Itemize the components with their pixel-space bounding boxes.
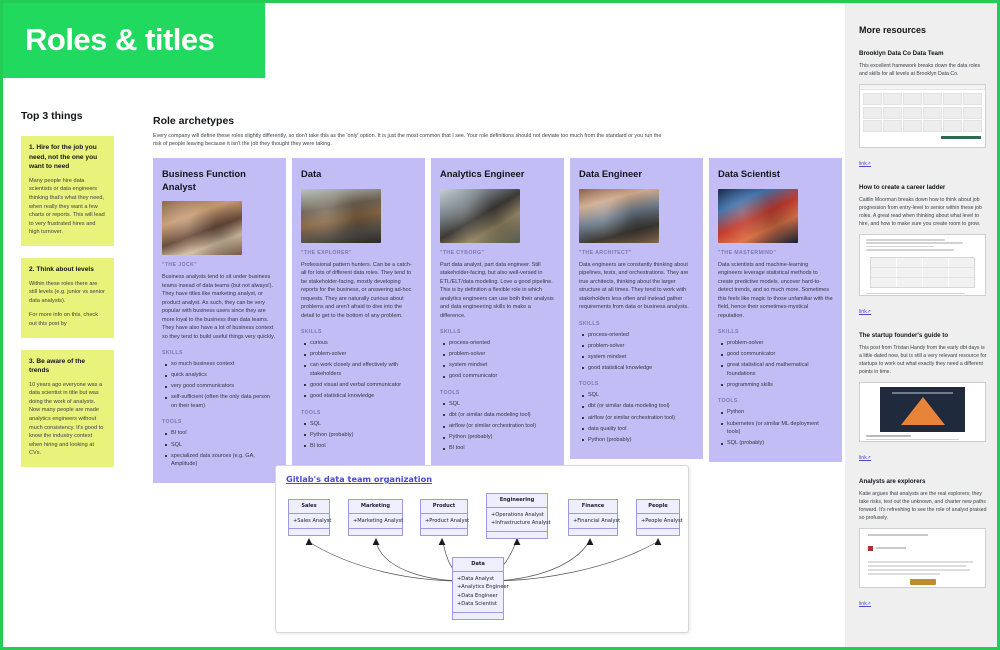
resource-item: The startup founder's guide to This post… [859, 331, 987, 464]
org-node-members: +Operations Analyst +Infrastructure Anal… [487, 508, 547, 532]
skills-list: process-oriented problem-solver system m… [440, 339, 555, 381]
skills-list: curious problem-solver can work closely … [301, 339, 416, 401]
sticky-note-title: 1. Hire for the job you need, not the on… [29, 143, 106, 172]
external-link-icon: ↗ [867, 601, 871, 607]
list-item: airflow (or similar orchestration tool) [449, 422, 555, 431]
jock-photo [162, 201, 242, 255]
blog-post-thumbnail[interactable] [859, 528, 986, 588]
org-member: +People Analyst [641, 517, 676, 525]
org-member: +Sales Analyst [293, 517, 326, 525]
archetype-description: Data scientists and machine-learning eng… [718, 261, 833, 321]
sticky-note-body: Many people hire data scientists or data… [29, 177, 106, 237]
archetype-card-title: Data [301, 168, 416, 181]
resource-link[interactable]: link↗ [859, 309, 871, 315]
org-member: +Infrastructure Analyst [491, 519, 544, 527]
org-node-name: Engineering [487, 494, 547, 508]
archetype-card-title: Business Function Analyst [162, 168, 277, 193]
org-node-name: Marketing [349, 500, 402, 514]
tools-label: TOOLS [440, 390, 555, 396]
list-item: problem-solver [449, 350, 555, 359]
resource-description: Caitlin Moorman breaks down how to think… [859, 196, 987, 228]
hero-banner: Roles & titles [3, 3, 265, 78]
org-member: +Data Scientist [457, 600, 500, 608]
org-node-finance[interactable]: Finance +Financial Analyst [568, 499, 618, 536]
tools-list: SQL dbt (or similar data modeling tool) … [440, 400, 555, 453]
tools-list: SQL Python (probably) BI tool [301, 420, 416, 451]
architect-photo [579, 189, 659, 243]
external-link-icon: ↗ [867, 309, 871, 315]
archetype-card-title: Data Engineer [579, 168, 694, 181]
list-item: so much business context [171, 360, 277, 369]
archetype-description: Part data analyst, part data engineer. S… [440, 261, 555, 321]
archetype-nickname: "THE CYBORG" [440, 250, 555, 256]
list-item: can work closely and effectively with st… [310, 361, 416, 378]
org-node-members: +Product Analyst [421, 514, 467, 529]
org-node-footer [569, 529, 617, 535]
archetype-card-list: Business Function Analyst "THE JOCK" Bus… [153, 158, 845, 483]
tools-list: BI tool SQL specialized data sources (e.… [162, 429, 277, 468]
list-item: SQL (probably) [727, 439, 833, 448]
org-member: +Product Analyst [425, 517, 464, 525]
list-item: SQL [171, 441, 277, 450]
top-three-heading: Top 3 things [21, 110, 121, 122]
skills-label: SKILLS [718, 329, 833, 335]
sticky-note: 1. Hire for the job you need, not the on… [21, 136, 114, 246]
list-item: good communicator [449, 372, 555, 381]
list-item: SQL [588, 391, 694, 400]
org-node-members: +Sales Analyst [289, 514, 329, 529]
org-node-name: People [637, 500, 679, 514]
resource-title: Analysts are explorers [859, 477, 987, 486]
list-item: data quality tool [588, 425, 694, 434]
org-node-sales[interactable]: Sales +Sales Analyst [288, 499, 330, 536]
list-item: specialized data sources (e.g. GA, Ampli… [171, 452, 277, 469]
list-item: problem-solver [588, 342, 694, 351]
list-item: Python (probably) [310, 431, 416, 440]
pyramid-article-thumbnail[interactable] [859, 382, 986, 442]
archetype-nickname: "THE ARCHITECT" [579, 250, 694, 256]
external-link-icon: ↗ [867, 161, 871, 167]
org-node-name: Product [421, 500, 467, 514]
archetype-description: Professional pattern hunters. Can be a c… [301, 261, 416, 321]
list-item: airflow (or similar orchestration tool) [588, 414, 694, 423]
archetype-card-title: Analytics Engineer [440, 168, 555, 181]
org-node-name: Sales [289, 500, 329, 514]
sticky-note-paragraph: For more info on this, check out this po… [29, 311, 106, 328]
org-member: +Operations Analyst [491, 511, 544, 519]
archetypes-header: Role archetypes Every company will defin… [153, 115, 673, 149]
list-item: system mindset [588, 353, 694, 362]
list-item: good statistical knowledge [310, 392, 416, 401]
list-item: curious [310, 339, 416, 348]
list-item: SQL [310, 420, 416, 429]
list-item: process-oriented [588, 331, 694, 340]
org-node-footer [637, 529, 679, 535]
list-item: very good communicators [171, 382, 277, 391]
archetype-nickname: "THE EXPLORER" [301, 250, 416, 256]
skills-list: problem-solver good communicator great s… [718, 339, 833, 389]
list-item: BI tool [171, 429, 277, 438]
org-node-engineering[interactable]: Engineering +Operations Analyst +Infrast… [486, 493, 548, 539]
archetype-description: Business analysts tend to sit under busi… [162, 273, 277, 341]
tools-list: SQL dbt (or similar data modeling tool) … [579, 391, 694, 444]
resource-link-label: link [859, 309, 867, 315]
list-item: programming skills [727, 381, 833, 390]
tools-label: TOOLS [162, 419, 277, 425]
archetype-card: Business Function Analyst "THE JOCK" Bus… [153, 158, 286, 483]
org-node-footer [453, 613, 503, 619]
org-member: +Data Analyst [457, 575, 500, 583]
org-node-name: Finance [569, 500, 617, 514]
top-three-column: Top 3 things 1. Hire for the job you nee… [21, 110, 121, 479]
archetype-nickname: "THE JOCK" [162, 262, 277, 268]
org-node-footer [421, 529, 467, 535]
list-item: Python [727, 408, 833, 417]
sticky-note-paragraph: Many people hire data scientists or data… [29, 177, 106, 237]
list-item: Python (probably) [588, 436, 694, 445]
resource-link-label: link [859, 455, 867, 461]
sticky-note-body: 10 years ago everyone was a data scienti… [29, 381, 106, 458]
resource-item: Analysts are explorers Katie argues that… [859, 477, 987, 610]
skills-list: so much business context quick analytics… [162, 360, 277, 410]
org-member: +Data Engineer [457, 592, 500, 600]
cyborg-photo [440, 189, 520, 243]
explorer-photo [301, 189, 381, 243]
archetype-nickname: "THE MASTERMIND" [718, 250, 833, 256]
org-member: +Financial Analyst [573, 517, 614, 525]
org-node-marketing[interactable]: Marketing +Marketing Analyst [348, 499, 403, 536]
archetype-card-title: Data Scientist [718, 168, 833, 181]
resource-link-label: link [859, 601, 867, 607]
archetype-card: Data Engineer "THE ARCHITECT" Data engin… [570, 158, 703, 459]
list-item: SQL [449, 400, 555, 409]
list-item: Python (probably) [449, 433, 555, 442]
list-item: dbt (or similar data modeling tool) [449, 411, 555, 420]
org-node-members: +Data Analyst +Analytics Engineer +Data … [453, 572, 503, 613]
resource-description: This post from Tristan Handy from the ea… [859, 344, 987, 376]
org-node-data[interactable]: Data +Data Analyst +Analytics Engineer +… [452, 557, 504, 620]
tools-label: TOOLS [718, 398, 833, 404]
sticky-note-title: 3. Be aware of the trends [29, 357, 106, 376]
thumbnail-cta-button [910, 579, 936, 585]
skills-list: process-oriented problem-solver system m… [579, 331, 694, 373]
sticky-note-paragraph: 10 years ago everyone was a data scienti… [29, 381, 106, 458]
resource-title: Brooklyn Data Co Data Team [859, 49, 987, 58]
org-node-footer [349, 529, 402, 535]
sticky-note-paragraph: Within these roles there are still level… [29, 280, 106, 306]
list-item: good communicator [727, 350, 833, 359]
sticky-note-title: 2. Think about levels [29, 265, 106, 275]
resource-link[interactable]: link↗ [859, 161, 871, 167]
main-canvas: Roles & titles Top 3 things 1. Hire for … [3, 3, 845, 647]
list-item: BI tool [310, 442, 416, 451]
resource-link-label: link [859, 161, 867, 167]
tools-list: Python kubernetes (or similar ML deploym… [718, 408, 833, 447]
org-node-product[interactable]: Product +Product Analyst [420, 499, 468, 536]
site-logo-icon [868, 546, 873, 551]
org-node-name: Data [453, 558, 503, 572]
resource-link[interactable]: link↗ [859, 601, 871, 607]
list-item: good visual and verbal communicator [310, 381, 416, 390]
list-item: system mindset [449, 361, 555, 370]
skills-label: SKILLS [579, 321, 694, 327]
org-node-members: +Financial Analyst [569, 514, 617, 529]
org-node-footer [289, 529, 329, 535]
sticky-note: 3. Be aware of the trends 10 years ago e… [21, 350, 114, 468]
list-item: problem-solver [310, 350, 416, 359]
sticky-note-body: Within these roles there are still level… [29, 280, 106, 329]
list-item: quick analytics [171, 371, 277, 380]
org-node-members: +Marketing Analyst [349, 514, 402, 529]
resource-description: Katie argues that analysts are the real … [859, 490, 987, 522]
list-item: BI tool [449, 444, 555, 453]
archetypes-title: Role archetypes [153, 115, 673, 127]
canvas-page: Roles & titles Top 3 things 1. Hire for … [0, 0, 1000, 650]
tools-label: TOOLS [301, 410, 416, 416]
list-item: good statistical knowledge [588, 364, 694, 373]
skills-label: SKILLS [301, 329, 416, 335]
skills-label: SKILLS [162, 350, 277, 356]
resource-title: How to create a career ladder [859, 183, 987, 192]
org-chart-panel: Gitlab's data team organization [275, 465, 689, 633]
archetype-card: Data Scientist "THE MASTERMIND" Data sci… [709, 158, 842, 462]
resource-description: This excellent framework breaks down the… [859, 62, 987, 78]
list-item: problem-solver [727, 339, 833, 348]
org-member: +Analytics Engineer [457, 583, 500, 591]
article-table-thumbnail[interactable] [859, 234, 986, 296]
org-node-people[interactable]: People +People Analyst [636, 499, 680, 536]
org-node-members: +People Analyst [637, 514, 679, 529]
resource-item: Brooklyn Data Co Data Team This excellen… [859, 49, 987, 170]
resource-item: How to create a career ladder Caitlin Mo… [859, 183, 987, 318]
archetype-card: Analytics Engineer "THE CYBORG" Part dat… [431, 158, 564, 467]
sidebar-title: More resources [859, 25, 987, 35]
org-node-footer [487, 532, 547, 538]
skills-label: SKILLS [440, 329, 555, 335]
list-item: dbt (or similar data modeling tool) [588, 402, 694, 411]
archetype-card: Data "THE EXPLORER" Professional pattern… [292, 158, 425, 465]
resource-link[interactable]: link↗ [859, 455, 871, 461]
org-member: +Marketing Analyst [353, 517, 399, 525]
mastermind-photo [718, 189, 798, 243]
more-resources-sidebar: More resources Brooklyn Data Co Data Tea… [845, 3, 1000, 647]
list-item: self-sufficient (often the only data per… [171, 393, 277, 410]
archetypes-intro: Every company will define these roles sl… [153, 132, 663, 149]
resource-title: The startup founder's guide to [859, 331, 987, 340]
list-item: kubernetes (or similar ML deployment too… [727, 420, 833, 437]
list-item: great statistical and mathematical found… [727, 361, 833, 378]
spreadsheet-thumbnail[interactable] [859, 84, 986, 148]
page-title: Roles & titles [25, 18, 214, 62]
list-item: process-oriented [449, 339, 555, 348]
archetype-description: Data engineers are constantly thinking a… [579, 261, 694, 312]
sticky-note: 2. Think about levels Within these roles… [21, 258, 114, 338]
tools-label: TOOLS [579, 381, 694, 387]
external-link-icon: ↗ [867, 455, 871, 461]
